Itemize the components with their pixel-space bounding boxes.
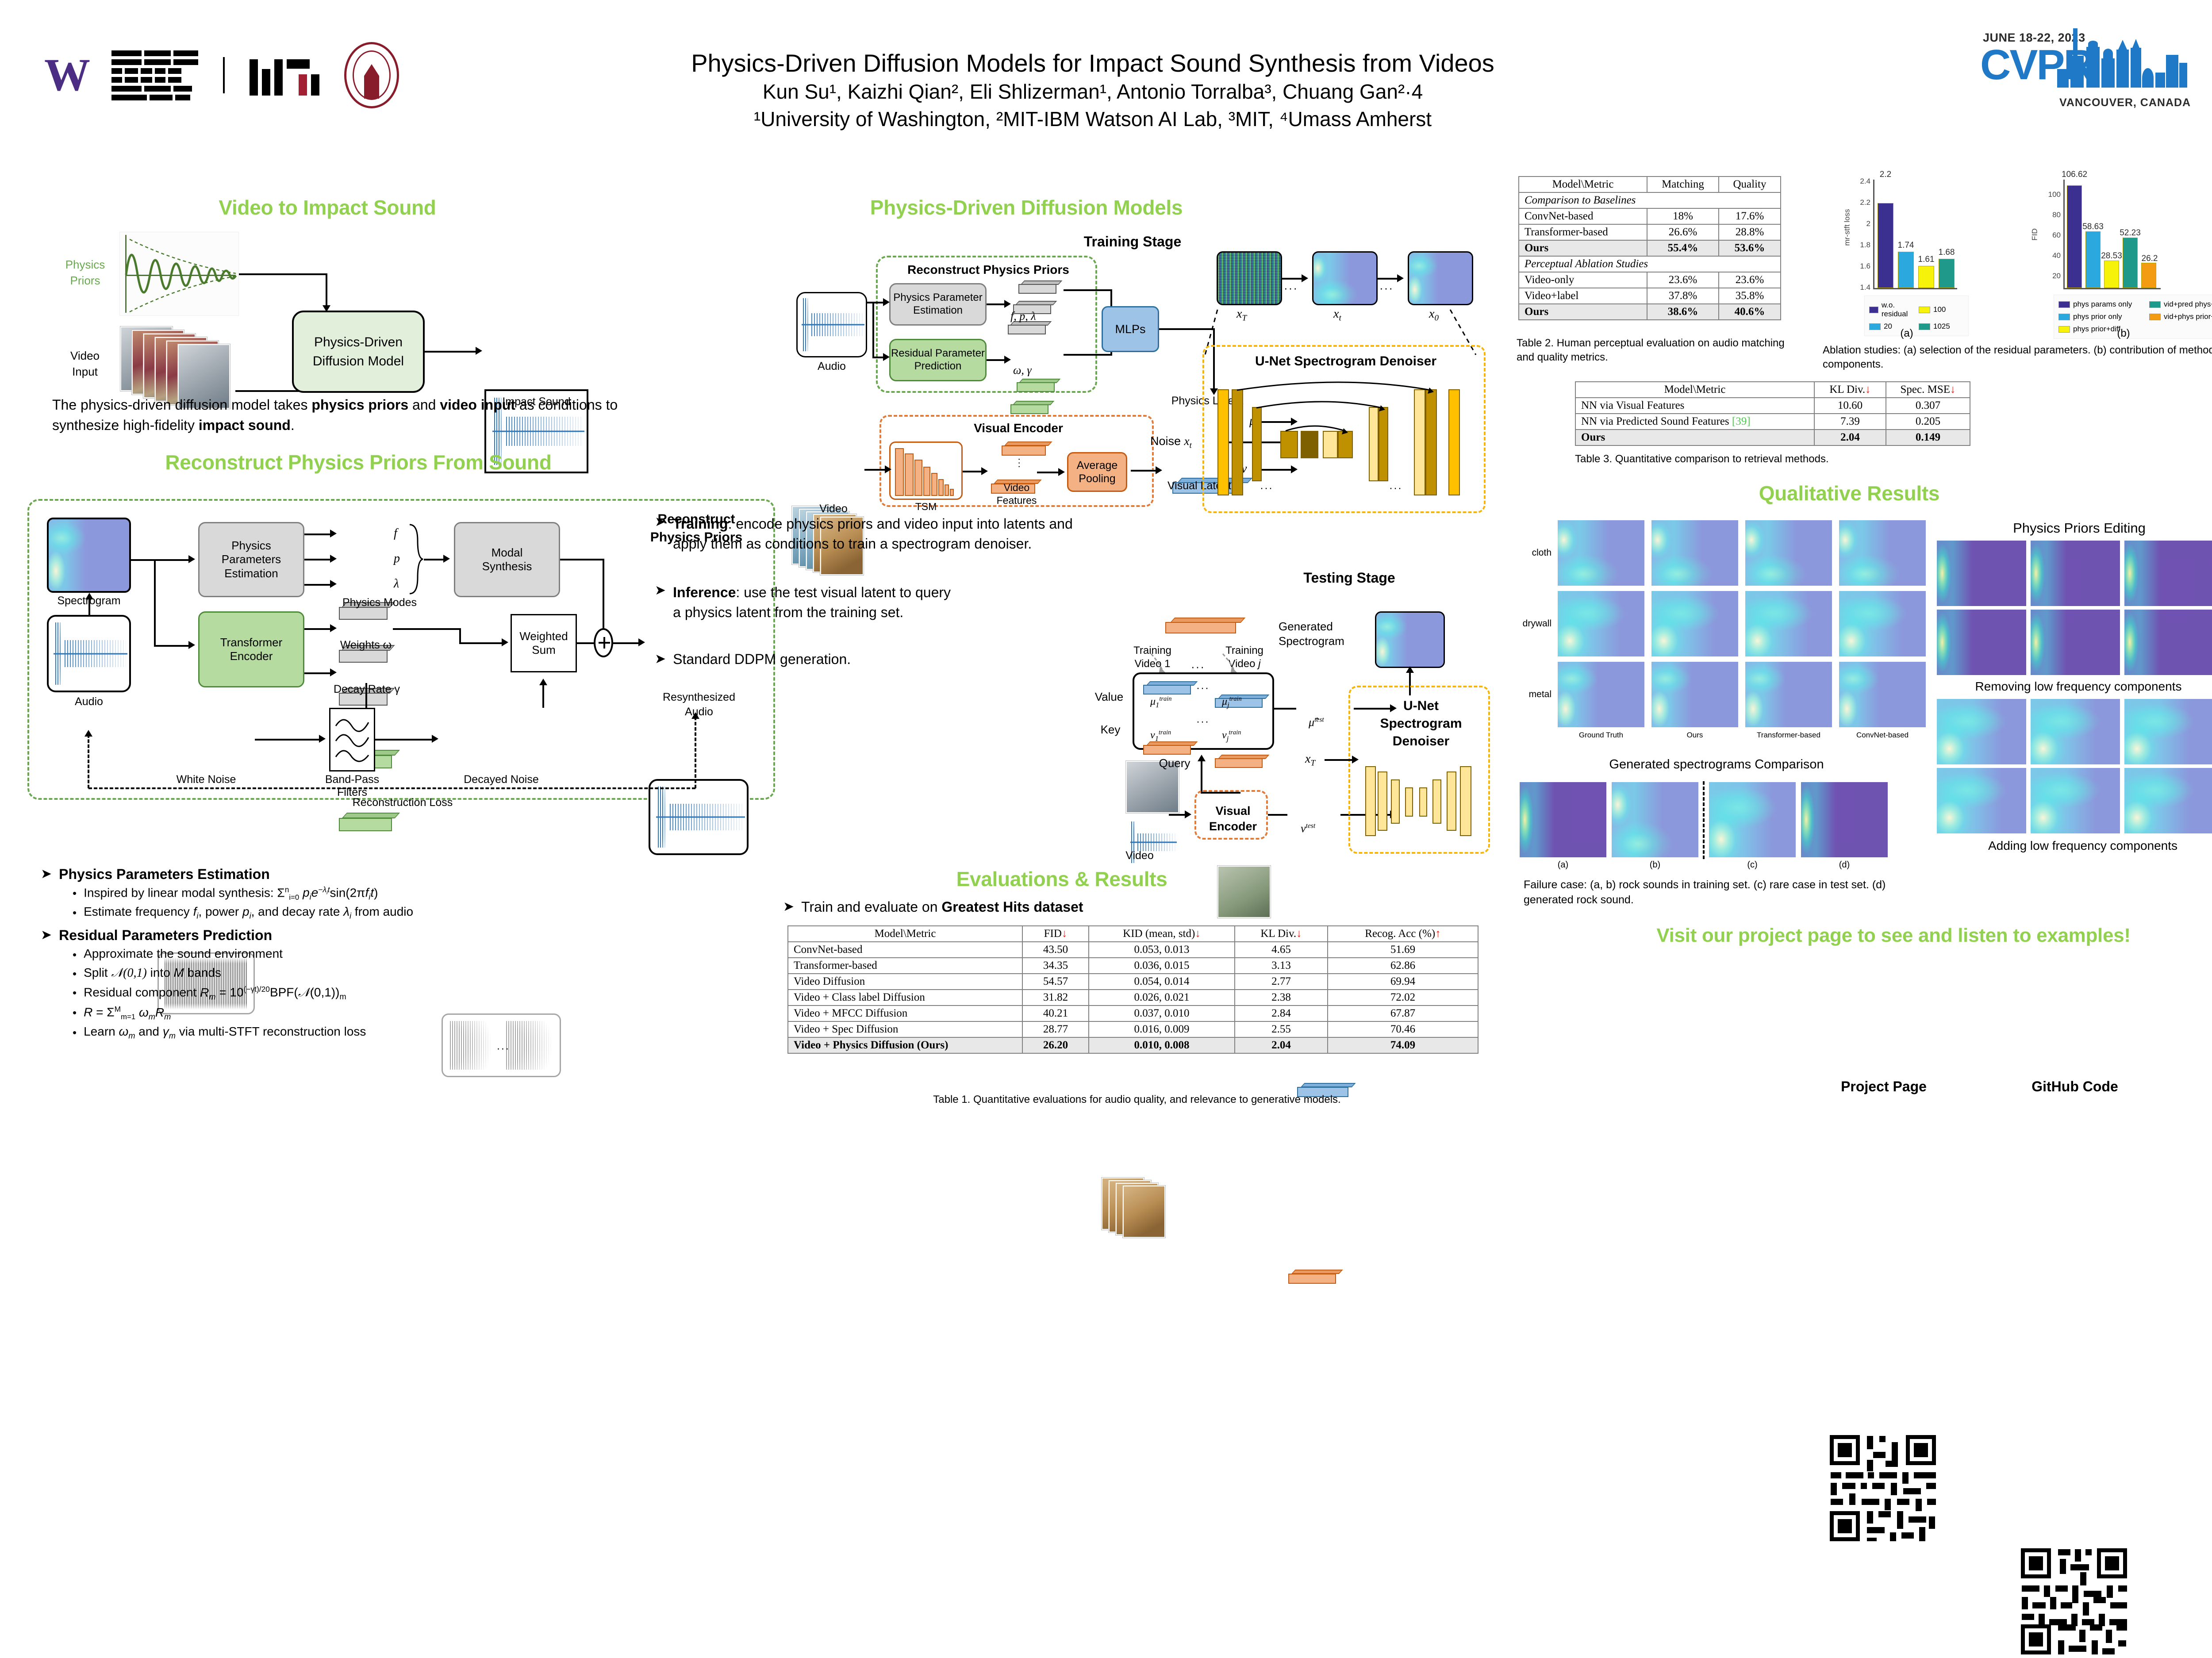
cell-model: NN via Visual Features: [1575, 398, 1814, 414]
diagram-video-to-impact-sound: PhysicsPriors VideoInput Physics-DrivenD…: [53, 217, 641, 403]
edit-remove-2: [2031, 541, 2120, 606]
reconstruct-physics-priors-group-label: Reconstruct Physics Priors: [878, 263, 1099, 277]
spec-metal-gt: [1558, 662, 1644, 727]
nu-train-1-chip: [1143, 741, 1191, 755]
ytick: 2.2: [1851, 198, 1870, 207]
visual-latent-chip: [1165, 618, 1236, 633]
training-audio-waveform: [796, 292, 867, 357]
umass-seal-logo: [344, 42, 399, 108]
unet-diagram: ··· ···: [1214, 380, 1479, 505]
testing-unet-title: U-NetSpectrogramDenoiser: [1350, 697, 1492, 751]
cell-fid: 31.82: [1022, 990, 1089, 1006]
spec-cloth-ours: [1651, 520, 1738, 586]
qr-label-github-code: GitHub Code: [2008, 1078, 2141, 1095]
eval-bullet-prefix: Train and evaluate on: [801, 899, 941, 915]
spectrogram-x0: [1408, 251, 1473, 305]
panel-label-a: (a): [1889, 327, 1924, 340]
bullet-inference: Inference: use the test visual latent to…: [673, 583, 960, 623]
table1-col-kid: KID (mean, std)↓: [1089, 926, 1235, 942]
cvpr-city: VANCOUVER, CANADA: [2059, 96, 2191, 109]
ytick: 2: [1851, 219, 1870, 228]
arrow-bullet-icon: ➤: [783, 899, 794, 915]
physics-modes-label: Physics Modes: [326, 596, 433, 609]
reconstruction-loss-line: [88, 787, 695, 789]
cta-text: Visit our project page to see and listen…: [1540, 925, 2212, 947]
cell-matching: 37.8%: [1647, 288, 1719, 304]
edit-add-2: [2031, 699, 2120, 764]
table2-col-model: Model\Metric: [1519, 177, 1647, 192]
brace-icon: [408, 523, 424, 596]
band-pass-filters-label: Band-Pass Filters: [312, 773, 392, 799]
cell-acc: 67.87: [1328, 1006, 1478, 1021]
nu-train-j-chip: [1215, 755, 1263, 768]
col-label-ground-truth: Ground Truth: [1558, 731, 1644, 740]
cell-kl: 3.13: [1235, 958, 1328, 974]
residual-param-chip: [1010, 401, 1048, 414]
cell-acc: 74.09: [1328, 1037, 1478, 1053]
citation-ref[interactable]: [39]: [1732, 415, 1751, 427]
cell-model: Ours: [1575, 430, 1814, 445]
intro-paragraph: The physics-driven diffusion model takes…: [52, 395, 654, 436]
unet-title: U-Net Spectrogram Denoiser: [1204, 354, 1487, 369]
weights-label: Weights ω: [326, 639, 405, 652]
cell-kid: 0.010, 0.008: [1089, 1037, 1235, 1053]
weighted-sum-box: WeightedSum: [511, 614, 577, 672]
testing-stage-label: Testing Stage: [1274, 570, 1425, 586]
transformer-encoder-box: TransformerEncoder: [198, 611, 304, 687]
table3-col-mse: Spec. MSE↓: [1886, 382, 1970, 398]
bar-1025: [1939, 259, 1955, 288]
cell-fid: 34.35: [1022, 958, 1089, 974]
section-title-physics-driven-diffusion-models: Physics-Driven Diffusion Models: [734, 196, 1318, 219]
edit-remove-5: [2031, 610, 2120, 675]
bar-label: 2.2: [1875, 170, 1896, 180]
table3-caption: Table 3. Quantitative comparison to retr…: [1575, 452, 1973, 466]
key-value-store-box: ··· μ1train μjtrain ··· ν1train νjtrain: [1133, 672, 1274, 750]
ylabel-b: FID: [2031, 228, 2039, 240]
table-row-highlight: Ours55.4%53.6%: [1519, 240, 1781, 256]
bullet-item: Approximate the sound environment: [84, 947, 283, 961]
spec-drywall-convnet: [1839, 591, 1926, 656]
edit-remove-6: [2124, 610, 2212, 675]
intro-bold-3: impact sound: [199, 417, 291, 433]
editing-caption-removing: Removing low frequency components: [1932, 679, 2212, 694]
cell-model: Ours: [1519, 304, 1647, 320]
failure-label-a: (a): [1520, 860, 1606, 870]
bullet-training-rest: : encode physics priors and video input …: [673, 516, 1073, 552]
cell-mse: 0.205: [1886, 414, 1970, 430]
test-visual-encoder-group: VisualEncoder: [1194, 790, 1268, 840]
cell-acc: 62.86: [1328, 958, 1478, 974]
failure-caption: Failure case: (a, b) rock sounds in trai…: [1524, 878, 1913, 908]
bullet-item: R = ΣMm=1 ωmRm: [84, 1005, 171, 1021]
grid-caption: Generated spectrograms Comparison: [1540, 757, 1893, 772]
cell-model: ConvNet-based: [788, 942, 1022, 958]
dot-bullet-icon: •: [73, 1025, 77, 1040]
test-video-label: Video: [1100, 849, 1179, 862]
ytick: 60: [2041, 231, 2061, 240]
skyline-graphic: [2055, 35, 2188, 88]
modal-synthesis-box: ModalSynthesis: [454, 522, 560, 597]
dot-bullet-icon: •: [73, 885, 77, 901]
training-stage-label: Training Stage: [1044, 234, 1221, 250]
table-row: Transformer-based34.350.036, 0.0153.1362…: [788, 958, 1478, 974]
legend-label: vid+phys prior+diff: [2164, 312, 2212, 321]
cell-model: Video+label: [1519, 288, 1647, 304]
ytick: 80: [2041, 211, 2061, 219]
cell-model: Video + Spec Diffusion: [788, 1021, 1022, 1037]
spec-drywall-gt: [1558, 591, 1644, 656]
legend-label: vid+pred phys+diff: [2164, 300, 2212, 309]
bullet-item: Inspired by linear modal synthesis: Σni=…: [84, 885, 378, 902]
cell-group1: Comparison to Baselines: [1519, 192, 1781, 208]
table1-col-fid: FID↓: [1022, 926, 1089, 942]
bullet-training: Training: encode physics priors and vide…: [673, 514, 1097, 554]
arrows-to-store: [1148, 653, 1271, 674]
editing-title: Physics Priors Editing: [1933, 520, 2212, 536]
cell-group2: Perceptual Ablation Studies: [1519, 256, 1781, 272]
failure-spec-d: [1801, 782, 1888, 857]
table-row: Video + Spec Diffusion28.770.016, 0.0092…: [788, 1021, 1478, 1037]
cell-model: NN via Predicted Sound Features [39]: [1575, 414, 1814, 430]
failure-label-c: (c): [1709, 860, 1796, 870]
failure-spec-b: [1612, 782, 1698, 857]
bar-vid-phys-prior-diff: [2141, 263, 2156, 288]
table1-caption: Table 1. Quantitative evaluations for au…: [787, 1093, 1486, 1107]
table2-col-quality: Quality: [1719, 177, 1781, 192]
cell-kl: 7.39: [1814, 414, 1886, 430]
cell-kl: 2.04: [1814, 430, 1886, 445]
ibm-logo: [111, 50, 198, 100]
plot-area-b: 106.62 58.63 28.53 52.23 26.2: [2063, 180, 2161, 289]
table3-header-row: Model\Metric KL Div.↓ Spec. MSE↓: [1575, 382, 1970, 398]
ytick: 2.4: [1851, 177, 1870, 186]
edit-add-1: [1937, 699, 2026, 764]
band-pass-filters-box: [329, 708, 375, 771]
section-title-reconstruct-physics-priors: Reconstruct Physics Priors From Sound: [27, 450, 690, 474]
table-row: Video-only23.6%23.6%: [1519, 272, 1781, 288]
arrow-bullet-icon: ➤: [655, 514, 666, 530]
bar-w-o-residual: [1878, 203, 1893, 288]
bar-phys-prior-only: [2085, 231, 2101, 288]
spec-metal-ours: [1651, 662, 1738, 727]
cell-kid: 0.054, 0.014: [1089, 974, 1235, 990]
cell-model: Transformer-based: [1519, 224, 1647, 240]
residual-parameter-prediction-box: Residual ParameterPrediction: [889, 339, 987, 381]
bullet-group-method: ➤ Training: encode physics priors and vi…: [655, 514, 1097, 668]
cell-matching: 38.6%: [1647, 304, 1719, 320]
bar-phys-prior-diff: [2104, 261, 2119, 288]
bar-label: 106.62: [2062, 170, 2087, 180]
bullet-item: Residual component Rm = 10(−γt)/20BPF(𝒩(…: [84, 985, 346, 1002]
physics-parameters-estimation-box: PhysicsParametersEstimation: [198, 522, 304, 597]
ytick: 1.4: [1851, 283, 1870, 292]
failure-spec-a: [1520, 782, 1606, 857]
spec-drywall-transformer: [1745, 591, 1832, 656]
generated-spectrogram-label: GeneratedSpectrogram: [1279, 619, 1376, 648]
intro-bold-2: video input: [440, 397, 515, 413]
bullet-group-physics-parameters-estimation: ➤ Physics Parameters Estimation • Inspir…: [41, 866, 678, 1044]
arrow-bullet-icon: ➤: [655, 583, 666, 599]
bar-vid-pred-phys-diff: [2123, 238, 2138, 288]
cell-matching: 23.6%: [1647, 272, 1719, 288]
cell-kid: 0.016, 0.009: [1089, 1021, 1235, 1037]
intro-bold-1: physics priors: [311, 397, 408, 413]
table2-group-row: Comparison to Baselines: [1519, 192, 1781, 208]
cell-kid: 0.036, 0.015: [1089, 958, 1235, 974]
cell-kl: 2.04: [1235, 1037, 1328, 1053]
failure-divider: [1703, 781, 1705, 859]
audio-label: Audio: [42, 695, 135, 708]
fpl-label: f, p, λ: [1010, 310, 1036, 323]
intro-part-2: and: [408, 397, 440, 413]
bullet-heading: Residual Parameters Prediction: [59, 927, 272, 944]
cell-kl: 2.84: [1235, 1006, 1328, 1021]
cell-matching: 18%: [1647, 208, 1719, 224]
table-row: Video Diffusion54.570.054, 0.0142.7769.9…: [788, 974, 1478, 990]
dots-1: ···: [1284, 281, 1298, 295]
legend-item: w.o. residual: [1869, 301, 1914, 319]
eval-bullet-bold: Greatest Hits dataset: [941, 899, 1083, 915]
mu-train-j-label: μjtrain: [1222, 695, 1242, 710]
col-label-convnet-based: ConvNet-based: [1839, 731, 1926, 740]
nu-train-j-label: νjtrain: [1222, 729, 1241, 743]
cell-fid: 28.77: [1022, 1021, 1089, 1037]
cell-kid: 0.026, 0.021: [1089, 990, 1235, 1006]
physics-param-chip: [1018, 280, 1056, 294]
cell-quality: 23.6%: [1719, 272, 1781, 288]
value-label: Value: [1085, 690, 1133, 704]
physics-driven-diffusion-model-box: Physics-DrivenDiffusion Model: [292, 311, 425, 393]
table-row: Video + Class label Diffusion31.820.026,…: [788, 990, 1478, 1006]
physics-param-chip: [1008, 321, 1046, 334]
cell-mse: 0.307: [1886, 398, 1970, 414]
dot-bullet-icon: •: [73, 947, 77, 963]
table-row: ConvNet-based43.500.053, 0.0134.6551.69: [788, 942, 1478, 958]
chart-ablation-b: 100 80 60 40 20 FID 106.62 58.63 28.53 5…: [2044, 177, 2212, 345]
cell-acc: 69.94: [1328, 974, 1478, 990]
table-row-highlight: Ours38.6%40.6%: [1519, 304, 1781, 320]
affiliation-list: ¹University of Washington, ²MIT-IBM Wats…: [513, 106, 1672, 133]
spec-cloth-gt: [1558, 520, 1644, 586]
cell-model: ConvNet-based: [1519, 208, 1647, 224]
edit-remove-4: [1937, 610, 2026, 675]
edit-add-3: [2124, 699, 2212, 764]
physics-priors-plot: [119, 232, 239, 316]
bullet-greatest-hits: ➤ Train and evaluate on Greatest Hits da…: [783, 899, 1314, 915]
qr-project-page[interactable]: [1826, 1432, 1939, 1545]
table1: Model\Metric FID↓ KID (mean, std)↓ KL Di…: [787, 925, 1479, 1054]
section-title-video-to-impact-sound: Video to Impact Sound: [53, 196, 602, 219]
video-features-label: VideoFeatures: [986, 481, 1048, 507]
physics-parameter-estimation-box: Physics ParameterEstimation: [889, 283, 987, 326]
table-row: Video + MFCC Diffusion40.210.037, 0.0102…: [788, 1006, 1478, 1021]
cell-kl: 2.55: [1235, 1021, 1328, 1037]
row-label-metal: metal: [1511, 689, 1551, 700]
video-input-frames: [120, 326, 242, 406]
ytick: 1.6: [1851, 262, 1870, 271]
legend-item: 100: [1919, 301, 1964, 319]
training-reconstruct-physics-priors-group: Reconstruct Physics Priors Physics Param…: [876, 256, 1097, 393]
failure-label-d: (d): [1801, 860, 1888, 870]
mu-test-label: μ̂test: [1309, 716, 1324, 729]
white-noise-label: White Noise: [154, 773, 258, 786]
residual-param-chip: [1017, 379, 1055, 392]
cell-acc: 51.69: [1328, 942, 1478, 958]
testing-unet-group: U-NetSpectrogramDenoiser: [1348, 686, 1490, 854]
key-label: Key: [1089, 723, 1132, 737]
noise-label: Noise xt: [1150, 434, 1192, 450]
cell-model: Video Diffusion: [788, 974, 1022, 990]
bar-phys-params-only: [2067, 185, 2082, 288]
cell-fid: 40.21: [1022, 1006, 1089, 1021]
bullet-inference-bold: Inference: [673, 584, 736, 600]
editing-grid-adding: [1937, 699, 2212, 836]
dots-2: ···: [1379, 281, 1394, 295]
cell-matching: 55.4%: [1647, 240, 1719, 256]
ylabel-a: mr-stft loss: [1843, 209, 1852, 246]
table2-caption: Table 2. Human perceptual evaluation on …: [1517, 336, 1795, 365]
cell-model: Transformer-based: [788, 958, 1022, 974]
bullet-item: Estimate frequency fi, power pi, and dec…: [84, 905, 413, 921]
mlps-box: MLPs: [1102, 306, 1159, 352]
legend-item: 1025: [1919, 322, 1964, 331]
cell-quality: 35.8%: [1719, 288, 1781, 304]
nu-train-1-label: ν1train: [1150, 729, 1171, 743]
edit-remove-3: [2124, 541, 2212, 606]
table-row: NN via Visual Features10.600.307: [1575, 398, 1970, 414]
intro-part-1: The physics-driven diffusion model takes: [52, 397, 311, 413]
table1-header-row: Model\Metric FID↓ KID (mean, std)↓ KL Di…: [788, 926, 1478, 942]
bar-label: 58.63: [2080, 222, 2106, 232]
spec-drywall-ours: [1651, 591, 1738, 656]
table-row: Video+label37.8%35.8%: [1519, 288, 1781, 304]
testing-xT-label: xT: [1305, 752, 1315, 768]
edit-remove-1: [1937, 541, 2026, 606]
testing-unet-diagram: [1363, 762, 1481, 841]
cell-kl: 2.77: [1235, 974, 1328, 990]
cell-fid: 26.20: [1022, 1037, 1089, 1053]
spectrogram-xt: [1312, 251, 1378, 305]
table1-col-kl: KL Div.↓: [1235, 926, 1328, 942]
ytick: 40: [2041, 251, 2061, 260]
legend-label: 100: [1933, 305, 1946, 314]
author-list: Kun Su¹, Kaizhi Qian², Eli Shlizerman¹, …: [513, 79, 1672, 105]
legend-item: phys params only: [2058, 300, 2144, 309]
edit-add-4: [1937, 768, 2026, 833]
bullet-greatest-hits-text: Train and evaluate on Greatest Hits data…: [801, 899, 1083, 915]
test-video-frames: [1102, 1178, 1179, 1244]
section-title-qualitative-results: Qualitative Results: [1628, 481, 2070, 505]
intro-part-4: .: [291, 417, 295, 433]
panel-label-b: (b): [2106, 327, 2141, 340]
dot-bullet-icon: •: [73, 905, 77, 921]
bullet-training-bold: Training: [673, 516, 728, 532]
mode-label-p: p: [394, 552, 400, 566]
spec-metal-transformer: [1745, 662, 1832, 727]
table2-col-matching: Matching: [1647, 177, 1719, 192]
table2: Model\Metric Matching Quality Comparison…: [1518, 176, 1781, 320]
cell-quality: 40.6%: [1719, 304, 1781, 320]
table2-group-row: Perceptual Ablation Studies: [1519, 256, 1781, 272]
training-audio-label: Audio: [794, 360, 870, 373]
dot-bullet-icon: •: [73, 1005, 77, 1021]
table1-col-model: Model\Metric: [788, 926, 1022, 942]
physics-priors-label: PhysicsPriors: [58, 257, 113, 289]
decay-rate-chip: [339, 813, 392, 831]
bar-label: 52.23: [2117, 228, 2143, 238]
cell-quality: 17.6%: [1719, 208, 1781, 224]
mit-logo: [250, 55, 319, 96]
mode-label-f: f: [394, 526, 397, 541]
editing-grid-removing: [1937, 541, 2212, 678]
cell-quality: 28.8%: [1719, 224, 1781, 240]
unet-spectrogram-denoiser-group: U-Net Spectrogram Denoiser ··· ···: [1202, 345, 1486, 513]
cell-model: Video + Class label Diffusion: [788, 990, 1022, 1006]
bar-label: 28.53: [2099, 251, 2124, 261]
table-row: NN via Predicted Sound Features [39]7.39…: [1575, 414, 1970, 430]
video-feature-chip: [1002, 441, 1046, 456]
audio-waveform-thumbnail: [47, 615, 131, 692]
edit-add-5: [2031, 768, 2120, 833]
bar-label: 1.74: [1895, 241, 1916, 250]
col-label-transformer-based: Transformer-based: [1745, 731, 1832, 740]
ablation-caption: Ablation studies: (a) selection of the r…: [1823, 343, 2212, 372]
chart-ablation-a: 2.4 2.2 2 1.8 1.6 1.4 mr-stft loss 2.2 1…: [1854, 177, 1986, 345]
plot-area-a: 2.2 1.74 1.61 1.68: [1873, 180, 1957, 289]
cell-fid: 43.50: [1022, 942, 1089, 958]
cell-model: Video + MFCC Diffusion: [788, 1006, 1022, 1021]
col-label-ours: Ours: [1651, 731, 1738, 740]
cell-kl: 4.65: [1235, 942, 1328, 958]
arrow-bullet-icon: ➤: [41, 927, 52, 943]
cell-matching: 26.6%: [1647, 224, 1719, 240]
table2-header-row: Model\Metric Matching Quality: [1519, 177, 1781, 192]
tsm-label: TSM: [897, 501, 955, 513]
cell-model: Video + Physics Diffusion (Ours): [788, 1037, 1022, 1053]
nu-test-label: νtest: [1301, 822, 1315, 835]
mu-train-1-label: μ1train: [1150, 695, 1171, 710]
legend-item: vid+pred phys+diff: [2149, 300, 2212, 309]
table-row-highlight: Ours2.040.149: [1575, 430, 1970, 445]
cell-model: Ours: [1519, 240, 1647, 256]
legend-label: phys params only: [2073, 300, 2132, 309]
legend-label: phys prior only: [2073, 312, 2122, 321]
logo-strip: W: [44, 42, 399, 108]
qr-github-code[interactable]: [2017, 1545, 2131, 1658]
qr-label-project-page: Project Page: [1817, 1078, 1950, 1095]
video-input-label: VideoInput: [57, 348, 113, 380]
resynthesized-audio-waveform: [649, 779, 749, 855]
editing-caption-adding: Adding low frequency components: [1937, 839, 2212, 853]
spec-metal-convnet: [1839, 662, 1926, 727]
cell-kid: 0.053, 0.013: [1089, 942, 1235, 958]
wg-label: ω, γ: [1013, 364, 1032, 377]
sum-operator-icon: [594, 628, 613, 657]
failure-spec-c: [1709, 782, 1796, 857]
bar-label: 1.61: [1916, 255, 1937, 265]
decayed-noise-label: Decayed Noise: [441, 773, 562, 786]
cell-model: Video-only: [1519, 272, 1647, 288]
cell-kid: 0.037, 0.010: [1089, 1006, 1235, 1021]
section-title-evaluations-results: Evaluations & Results: [787, 867, 1336, 891]
cell-acc: 72.02: [1328, 990, 1478, 1006]
tsm-box: [889, 441, 963, 500]
cell-mse: 0.149: [1886, 430, 1970, 445]
bullet-heading: Physics Parameters Estimation: [59, 866, 270, 883]
cell-fid: 54.57: [1022, 974, 1089, 990]
failure-case-row: (a) (b) (c) (d): [1520, 782, 1900, 879]
